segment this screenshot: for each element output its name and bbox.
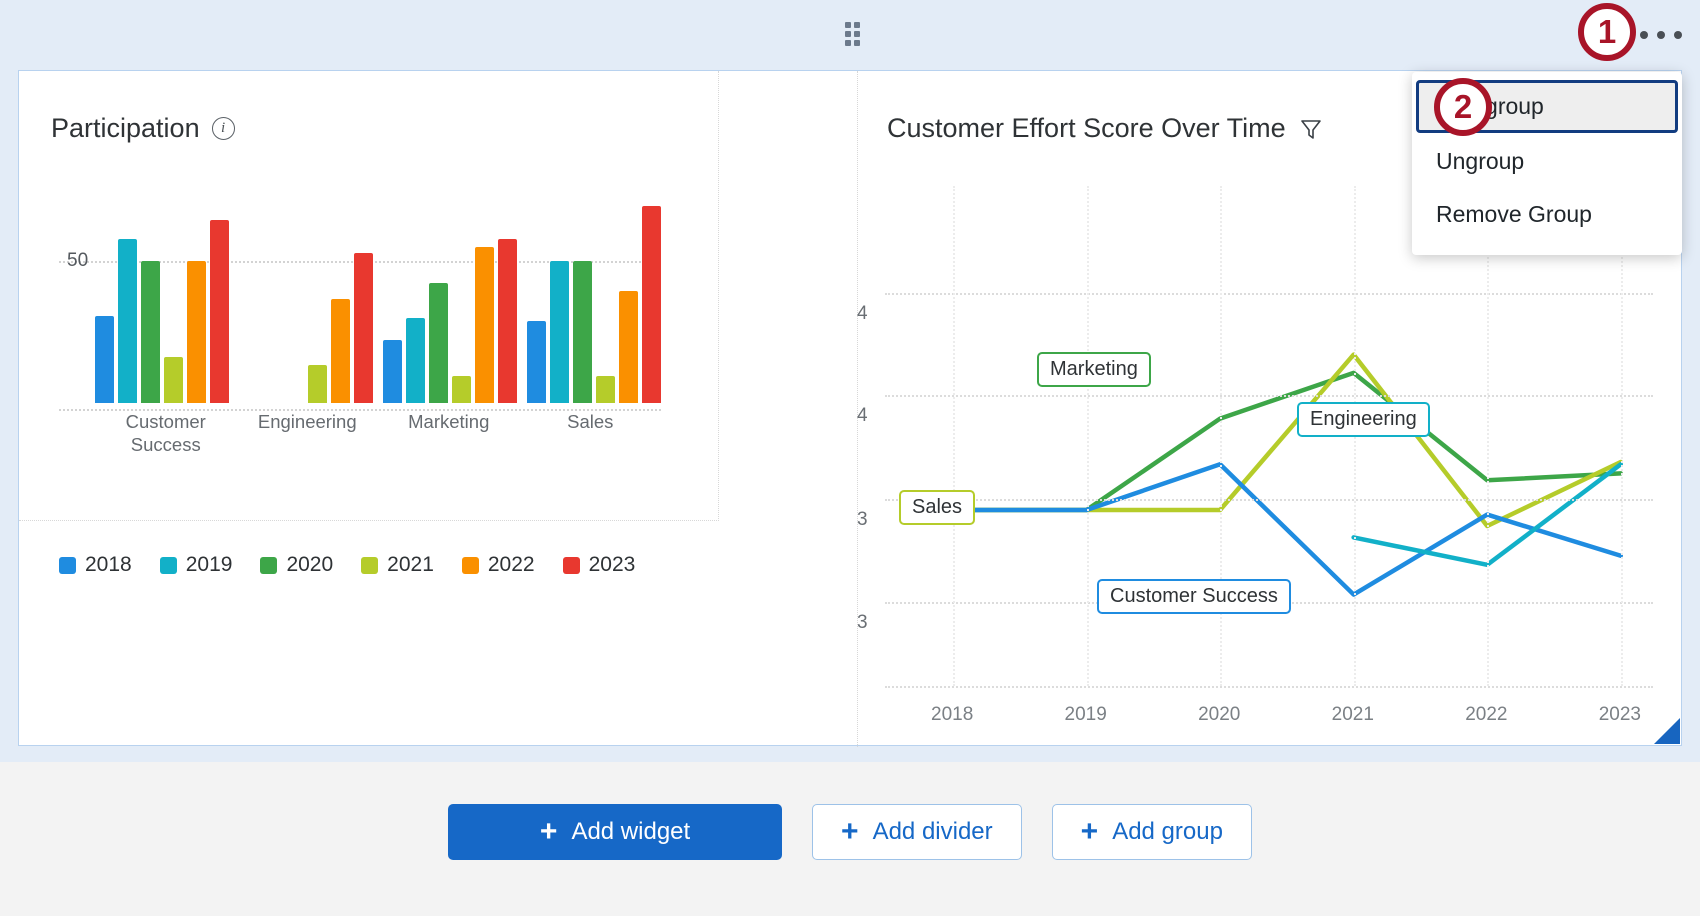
- legend-item-2022[interactable]: 2022: [462, 553, 535, 577]
- line-gridline: [885, 395, 1653, 397]
- bar-chart: 50 Customer SuccessEngineeringMarketingS…: [51, 206, 661, 461]
- group-toolbar: [0, 0, 1700, 70]
- bar-2018[interactable]: [527, 321, 546, 403]
- annotation-badge-2: 2: [1434, 78, 1492, 136]
- legend-swatch: [563, 557, 580, 574]
- bar-category-label: Marketing: [378, 411, 520, 461]
- add-widget-button[interactable]: + Add widget: [448, 804, 782, 860]
- legend-swatch: [160, 557, 177, 574]
- line-gridline: [885, 293, 1653, 295]
- bar-2020[interactable]: [429, 283, 448, 403]
- legend-swatch: [462, 557, 479, 574]
- series-label-customer-success[interactable]: Customer Success: [1097, 579, 1291, 614]
- legend-label: 2021: [387, 553, 434, 577]
- legend-label: 2022: [488, 553, 535, 577]
- line-chart-svg: [857, 186, 1683, 746]
- line-series-marketing[interactable]: [953, 373, 1621, 510]
- series-label-engineering[interactable]: Engineering: [1297, 402, 1430, 437]
- bar-group: [527, 206, 661, 403]
- bar-2022[interactable]: [331, 299, 350, 403]
- bar-2023[interactable]: [354, 253, 373, 403]
- line-xtick-label: 2019: [1065, 704, 1107, 726]
- legend-item-2018[interactable]: 2018: [59, 553, 132, 577]
- line-xtick-label: 2022: [1465, 704, 1507, 726]
- bar-2019[interactable]: [550, 261, 569, 403]
- bar-2022[interactable]: [187, 261, 206, 403]
- bar-2023[interactable]: [642, 206, 661, 403]
- legend-item-2023[interactable]: 2023: [563, 553, 636, 577]
- bar-2022[interactable]: [475, 247, 494, 403]
- line-ytick-label: 4: [857, 303, 868, 325]
- bar-2019[interactable]: [118, 239, 137, 403]
- add-divider-label: Add divider: [873, 818, 993, 846]
- footer-actions: + Add widget + Add divider + Add group: [0, 804, 1700, 860]
- legend-item-2020[interactable]: 2020: [260, 553, 333, 577]
- legend-label: 2020: [286, 553, 333, 577]
- legend-label: 2019: [186, 553, 233, 577]
- bar-ytick-label: 50: [67, 250, 88, 272]
- bar-2019[interactable]: [406, 318, 425, 403]
- line-vertical-gridline: [1621, 186, 1623, 686]
- participation-title: Participation i: [51, 113, 235, 144]
- line-xtick-label: 2023: [1599, 704, 1641, 726]
- bar-2021[interactable]: [164, 357, 183, 403]
- widget-group-container: Participation i 50 Customer SuccessEngin…: [0, 0, 1700, 762]
- bar-category-label: Sales: [520, 411, 662, 461]
- line-ytick-label: 4: [857, 405, 868, 427]
- legend-item-2019[interactable]: 2019: [160, 553, 233, 577]
- ces-title: Customer Effort Score Over Time: [887, 113, 1324, 144]
- line-ytick-label: 3: [857, 509, 868, 531]
- legend-swatch: [59, 557, 76, 574]
- resize-handle[interactable]: [1654, 718, 1680, 744]
- bar-2021[interactable]: [452, 376, 471, 403]
- bar-category-label: Customer Success: [95, 411, 237, 461]
- footer-bar: + Add widget + Add divider + Add group: [0, 762, 1700, 916]
- line-gridline: [885, 499, 1653, 501]
- bar-2021[interactable]: [308, 365, 327, 403]
- bar-group: [95, 206, 229, 403]
- bar-chart-legend: 201820192020202120222023: [59, 553, 635, 577]
- line-vertical-gridline: [1087, 186, 1089, 686]
- legend-swatch: [361, 557, 378, 574]
- line-xtick-label: 2018: [931, 704, 973, 726]
- menu-item-remove-group[interactable]: Remove Group: [1412, 188, 1682, 241]
- line-series-customer-success[interactable]: [953, 464, 1621, 594]
- menu-item-ungroup[interactable]: Ungroup: [1412, 135, 1682, 188]
- series-label-sales[interactable]: Sales: [899, 490, 975, 525]
- bar-category-labels: Customer SuccessEngineeringMarketingSale…: [95, 411, 661, 461]
- bar-2023[interactable]: [498, 239, 517, 403]
- add-group-button[interactable]: + Add group: [1052, 804, 1252, 860]
- line-gridline: [885, 686, 1653, 688]
- legend-item-2021[interactable]: 2021: [361, 553, 434, 577]
- line-chart: 4433201820192020202120222023MarketingSal…: [857, 186, 1683, 746]
- line-vertical-gridline: [1487, 186, 1489, 686]
- plus-icon: +: [841, 817, 859, 847]
- more-options-icon[interactable]: [1640, 22, 1682, 48]
- ces-title-text: Customer Effort Score Over Time: [887, 113, 1286, 144]
- drag-grid-icon[interactable]: [845, 22, 865, 48]
- add-widget-label: Add widget: [571, 818, 690, 846]
- add-group-label: Add group: [1112, 818, 1223, 846]
- participation-title-text: Participation: [51, 113, 200, 144]
- line-xtick-label: 2021: [1332, 704, 1374, 726]
- bar-2018[interactable]: [95, 316, 114, 403]
- series-label-marketing[interactable]: Marketing: [1037, 352, 1151, 387]
- widget-participation[interactable]: Participation i 50 Customer SuccessEngin…: [19, 71, 719, 521]
- bar-2021[interactable]: [596, 376, 615, 403]
- annotation-badge-1: 1: [1578, 3, 1636, 61]
- bar-2020[interactable]: [573, 261, 592, 403]
- bar-plot-area: [95, 206, 661, 403]
- bar-group: [239, 206, 373, 403]
- plus-icon: +: [1081, 817, 1099, 847]
- bar-category-label: Engineering: [237, 411, 379, 461]
- bar-2020[interactable]: [141, 261, 160, 403]
- line-vertical-gridline: [953, 186, 955, 686]
- plus-icon: +: [540, 817, 558, 847]
- info-icon[interactable]: i: [212, 117, 235, 140]
- bar-group: [383, 206, 517, 403]
- line-ytick-label: 3: [857, 612, 868, 634]
- legend-label: 2018: [85, 553, 132, 577]
- legend-label: 2023: [589, 553, 636, 577]
- line-xtick-label: 2020: [1198, 704, 1240, 726]
- legend-swatch: [260, 557, 277, 574]
- bar-2023[interactable]: [210, 220, 229, 403]
- add-divider-button[interactable]: + Add divider: [812, 804, 1022, 860]
- filter-icon[interactable]: [1298, 117, 1324, 141]
- bar-2022[interactable]: [619, 291, 638, 403]
- bar-2018[interactable]: [383, 340, 402, 403]
